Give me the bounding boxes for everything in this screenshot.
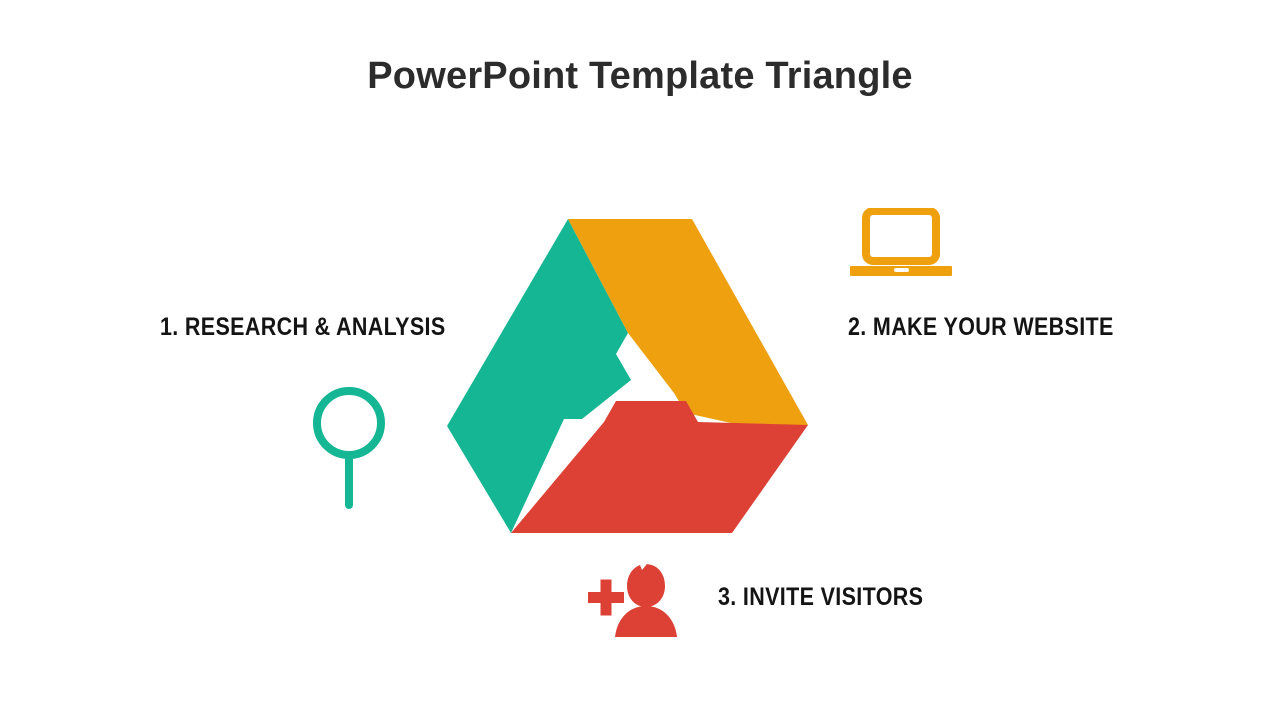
step-label-visitors: 3. INVITE VISITORS bbox=[718, 583, 923, 612]
page-title: PowerPoint Template Triangle bbox=[0, 55, 1280, 98]
interlocking-triangle-graphic bbox=[430, 205, 830, 550]
laptop-icon bbox=[850, 208, 952, 278]
step-label-website: 2. MAKE YOUR WEBSITE bbox=[848, 313, 1114, 342]
step-label-research: 1. RESEARCH & ANALYSIS bbox=[160, 313, 446, 342]
magnifier-icon bbox=[306, 382, 392, 512]
slide-canvas: PowerPoint Template Triangle 1. RESEARCH… bbox=[0, 0, 1280, 720]
add-user-icon bbox=[585, 562, 677, 638]
